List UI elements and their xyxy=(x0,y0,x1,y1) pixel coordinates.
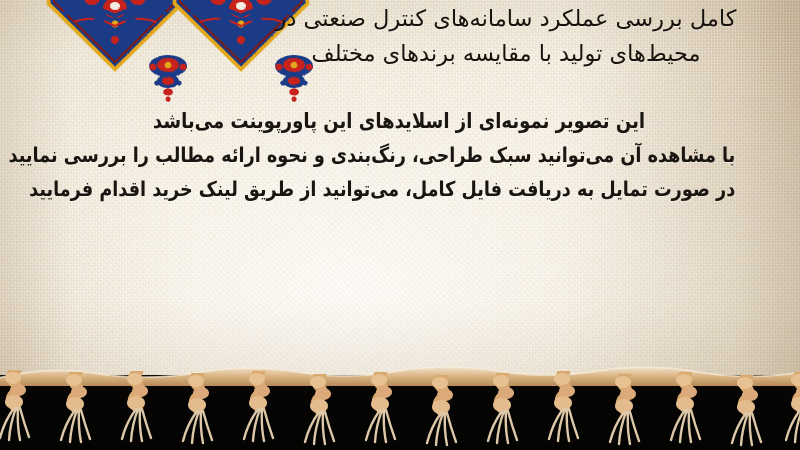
carpet-pendant-left xyxy=(142,54,194,104)
slide-title-line-2: محیط‌های تولید با مقایسه برندهای مختلف xyxy=(226,37,786,72)
slide-body: این تصویر نمونه‌ای از اسلایدهای این پاور… xyxy=(8,104,790,206)
slide-title-line-1: کامل بررسی عملکرد سامانه‌های کنترل صنعتی… xyxy=(226,2,786,37)
slide-body-line-1: این تصویر نمونه‌ای از اسلایدهای این پاور… xyxy=(63,104,736,138)
fringe-tassel xyxy=(297,374,345,448)
fringe-tassel xyxy=(0,370,40,444)
fringe-tassel xyxy=(53,372,101,446)
fringe-tassel xyxy=(778,372,800,446)
slide-title: کامل بررسی عملکرد سامانه‌های کنترل صنعتی… xyxy=(226,2,786,72)
fringe-tassel xyxy=(419,375,467,449)
fringe-tassel xyxy=(724,375,772,449)
fringe-tassel xyxy=(236,371,284,445)
fringe-tassel xyxy=(480,373,528,447)
slide-body-line-2: با مشاهده آن می‌توانید سبک طراحی، رنگ‌بن… xyxy=(63,138,736,172)
fringe-tassel xyxy=(541,371,589,445)
slide-body-line-3: در صورت تمایل به دریافت فایل کامل، می‌تو… xyxy=(63,172,736,206)
fringe-tassel xyxy=(358,372,406,446)
fringe-tassel xyxy=(175,373,223,447)
slide-canvas: کامل بررسی عملکرد سامانه‌های کنترل صنعتی… xyxy=(0,0,800,450)
carpet-fringe xyxy=(0,352,800,450)
fringe-tassel xyxy=(114,371,162,445)
fringe-tassel xyxy=(602,374,650,448)
fringe-tassel xyxy=(663,372,711,446)
